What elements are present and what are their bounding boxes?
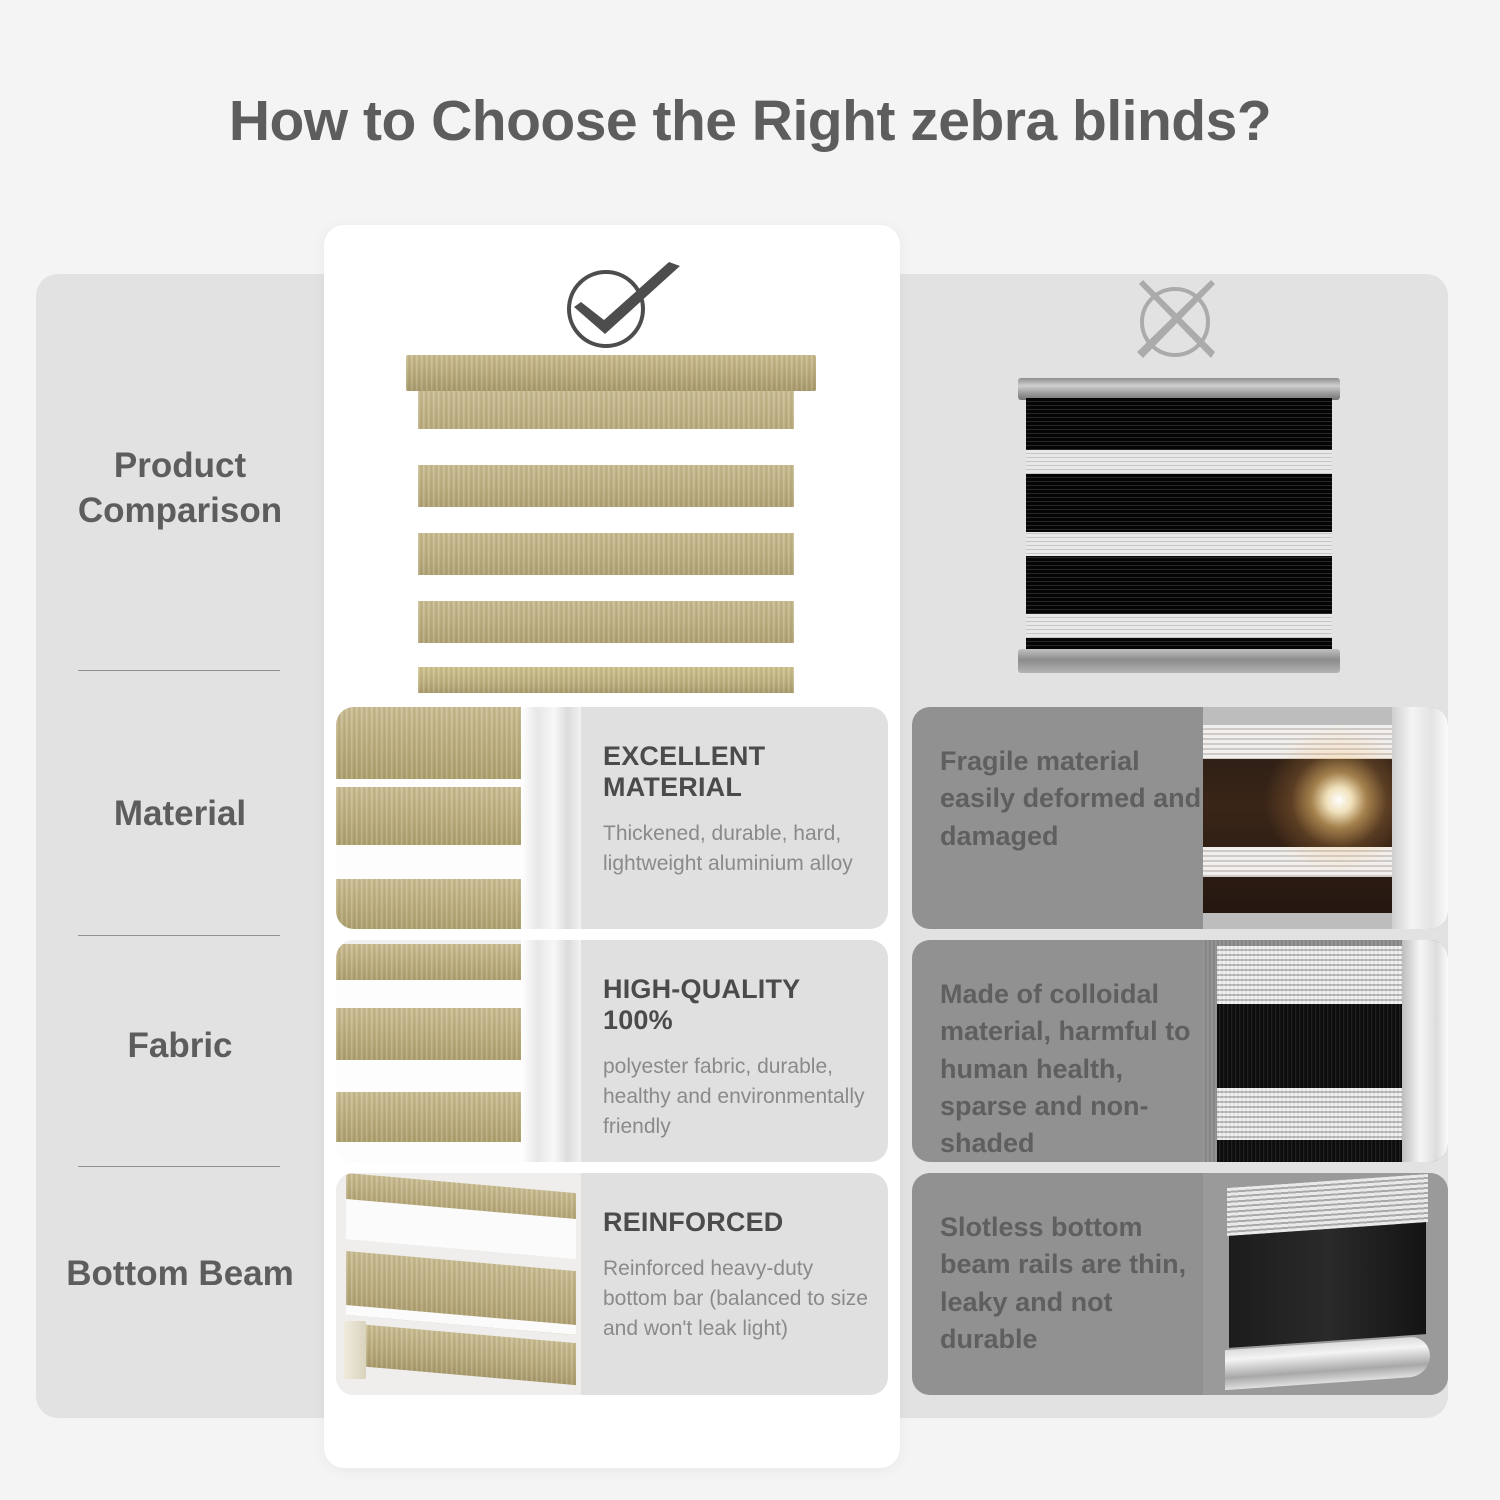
sidebar-label: Material xyxy=(114,792,246,837)
feature-title: HIGH-QUALITY 100% xyxy=(603,974,868,1036)
feature-body: polyester fabric, durable, healthy and e… xyxy=(603,1052,868,1141)
sidebar-label: Product Comparison xyxy=(36,444,324,534)
slat xyxy=(418,533,794,575)
page-title: How to Choose the Right zebra blinds? xyxy=(0,88,1500,154)
feature-card-good-fabric: HIGH-QUALITY 100% polyester fabric, dura… xyxy=(336,940,888,1162)
headrail xyxy=(406,355,816,391)
sidebar-divider-3 xyxy=(78,1166,280,1167)
blind-fabric xyxy=(1026,398,1332,651)
photo-bad-material xyxy=(1203,707,1448,929)
sidebar-divider-1 xyxy=(78,670,280,671)
sidebar-item-product-comparison: Product Comparison xyxy=(36,434,324,544)
text-bad-material: Fragile material easily deformed and dam… xyxy=(912,707,1203,929)
bottom-rail xyxy=(1018,649,1340,673)
text-bad-bottom-beam: Slotless bottom beam rails are thin, lea… xyxy=(912,1173,1203,1395)
feature-body: Made of colloidal material, harmful to h… xyxy=(940,976,1203,1162)
feature-body: Fragile material easily deformed and dam… xyxy=(940,743,1203,855)
check-circle-icon xyxy=(548,262,688,352)
top-slat xyxy=(418,391,794,429)
hero-product-good xyxy=(406,355,816,695)
feature-card-bad-material: Fragile material easily deformed and dam… xyxy=(912,707,1448,929)
slat xyxy=(418,601,794,643)
feature-body: Thickened, durable, hard, lightweight al… xyxy=(603,819,868,879)
feature-card-good-material: EXCELLENT MATERIAL Thickened, durable, h… xyxy=(336,707,888,929)
hero-product-bad xyxy=(1018,378,1340,673)
slat xyxy=(418,465,794,507)
photo-bad-bottom-beam xyxy=(1203,1173,1448,1395)
sidebar-divider-2 xyxy=(78,935,280,936)
sidebar-label: Bottom Beam xyxy=(66,1252,294,1297)
sidebar-item-bottom-beam: Bottom Beam xyxy=(36,1219,324,1329)
text-good-material: EXCELLENT MATERIAL Thickened, durable, h… xyxy=(581,707,888,929)
text-bad-fabric: Made of colloidal material, harmful to h… xyxy=(912,940,1203,1162)
photo-bad-fabric xyxy=(1203,940,1448,1162)
feature-body: Slotless bottom beam rails are thin, lea… xyxy=(940,1209,1203,1358)
text-good-bottom-beam: REINFORCED Reinforced heavy-duty bottom … xyxy=(581,1173,888,1395)
feature-card-bad-bottom-beam: Slotless bottom beam rails are thin, lea… xyxy=(912,1173,1448,1395)
cross-circle-icon xyxy=(1125,278,1225,362)
photo-good-bottom-beam xyxy=(336,1173,581,1395)
sidebar-item-material: Material xyxy=(36,779,324,849)
bottom-bar xyxy=(418,667,794,693)
feature-title: EXCELLENT MATERIAL xyxy=(603,741,868,803)
category-sidebar: Product Comparison Material Fabric Botto… xyxy=(36,274,324,1418)
feature-title: REINFORCED xyxy=(603,1207,868,1238)
feature-card-good-bottom-beam: REINFORCED Reinforced heavy-duty bottom … xyxy=(336,1173,888,1395)
photo-good-fabric xyxy=(336,940,581,1162)
sidebar-label: Fabric xyxy=(127,1024,232,1069)
photo-good-material xyxy=(336,707,581,929)
headrail xyxy=(1018,378,1340,400)
infographic-page: How to Choose the Right zebra blinds? Pr… xyxy=(0,0,1500,1500)
sidebar-item-fabric: Fabric xyxy=(36,1011,324,1081)
feature-body: Reinforced heavy-duty bottom bar (balanc… xyxy=(603,1254,868,1343)
feature-card-bad-fabric: Made of colloidal material, harmful to h… xyxy=(912,940,1448,1162)
text-good-fabric: HIGH-QUALITY 100% polyester fabric, dura… xyxy=(581,940,888,1162)
